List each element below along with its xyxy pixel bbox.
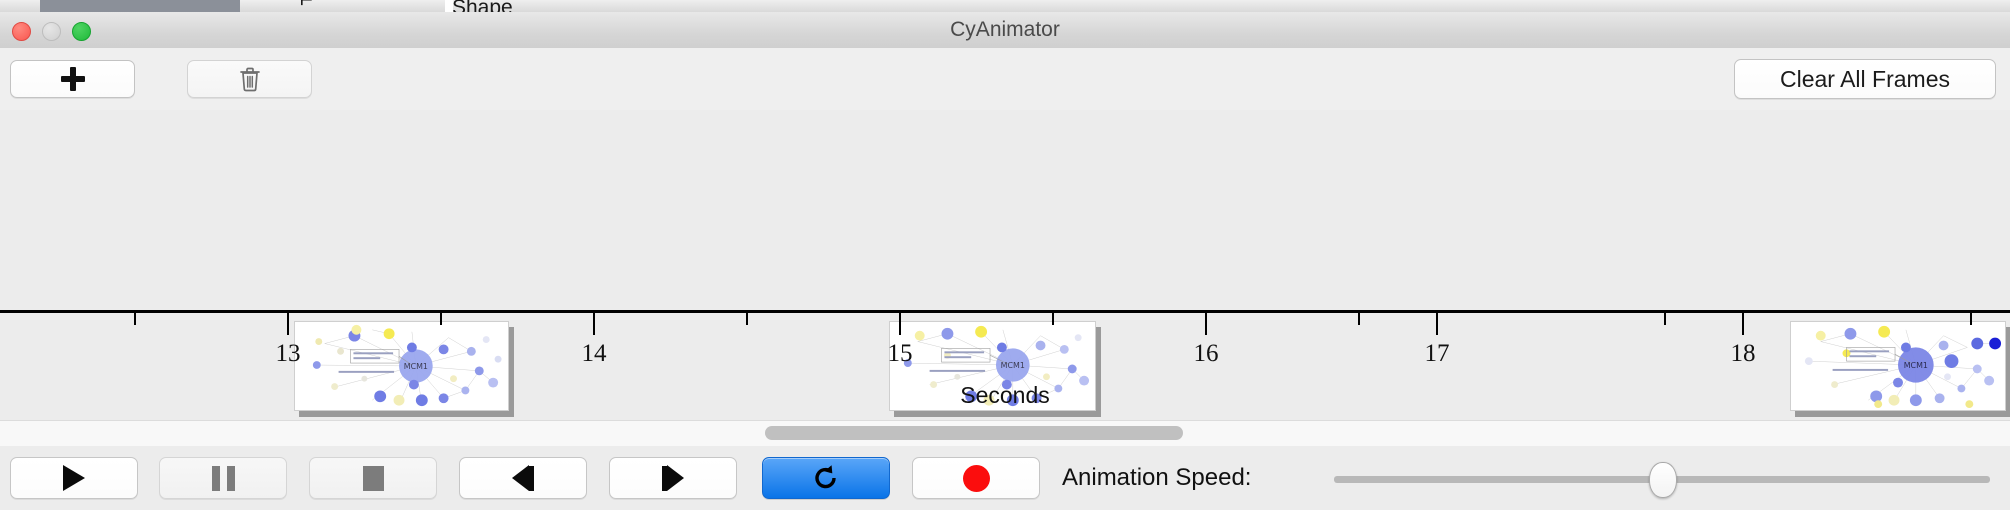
previous-frame-button[interactable] — [459, 457, 587, 499]
record-icon — [963, 465, 990, 492]
axis-tick-major — [1436, 313, 1438, 335]
loop-icon — [811, 463, 841, 493]
window-title: CyAnimator — [0, 12, 2010, 48]
play-icon — [63, 465, 85, 491]
title-bar: CyAnimator — [0, 12, 2010, 49]
pause-button[interactable] — [159, 457, 287, 499]
loop-button[interactable] — [762, 457, 890, 499]
axis-tick-minor — [1664, 313, 1666, 325]
axis-tick-label: 16 — [1194, 340, 1219, 368]
timeline-axis: 12131415161718 Seconds — [0, 310, 2010, 420]
axis-tick-major — [287, 313, 289, 335]
axis-tick-major — [899, 313, 901, 335]
animation-speed-label: Animation Speed: — [1062, 457, 1251, 499]
playback-control-bar: Animation Speed: — [0, 446, 2010, 510]
background-window-strip: ⌐ Shape — [0, 0, 2010, 12]
axis-tick-label: 15 — [888, 340, 913, 368]
scrollbar-thumb[interactable] — [765, 426, 1183, 440]
axis-tick-minor — [1358, 313, 1360, 325]
pause-icon — [212, 466, 235, 491]
axis-tick-minor — [1052, 313, 1054, 325]
axis-tick-major — [1742, 313, 1744, 335]
stop-button[interactable] — [309, 457, 437, 499]
axis-tick-label: 18 — [1731, 340, 1756, 368]
axis-title: Seconds — [0, 382, 2010, 409]
axis-tick-minor — [134, 313, 136, 325]
axis-line — [0, 310, 2010, 313]
skip-back-icon — [512, 465, 534, 491]
add-frame-button[interactable] — [10, 60, 135, 98]
next-frame-button[interactable] — [609, 457, 737, 499]
axis-tick-minor — [746, 313, 748, 325]
skip-forward-icon — [662, 465, 684, 491]
background-window-label: Shape — [452, 0, 513, 12]
axis-tick-label: 17 — [1425, 340, 1450, 368]
delete-frame-button[interactable] — [187, 60, 312, 98]
plus-icon — [61, 67, 85, 91]
toolbar: Clear All Frames — [0, 48, 2010, 111]
axis-tick-minor — [1970, 313, 1972, 325]
axis-tick-label: 14 — [582, 340, 607, 368]
slider-thumb[interactable] — [1649, 462, 1677, 498]
play-button[interactable] — [10, 457, 138, 499]
clear-all-frames-button[interactable]: Clear All Frames — [1734, 59, 1996, 99]
axis-tick-label: 13 — [276, 340, 301, 368]
animation-speed-slider[interactable] — [1334, 476, 1990, 483]
axis-tick-minor — [440, 313, 442, 325]
cyanimator-window: ⌐ Shape CyAnimator Clear All Frames — [0, 0, 2010, 510]
horizontal-scrollbar[interactable] — [0, 420, 2010, 447]
record-button[interactable] — [912, 457, 1040, 499]
axis-tick-major — [593, 313, 595, 335]
stop-icon — [363, 466, 384, 491]
trash-icon — [239, 66, 261, 92]
axis-tick-major — [1205, 313, 1207, 335]
